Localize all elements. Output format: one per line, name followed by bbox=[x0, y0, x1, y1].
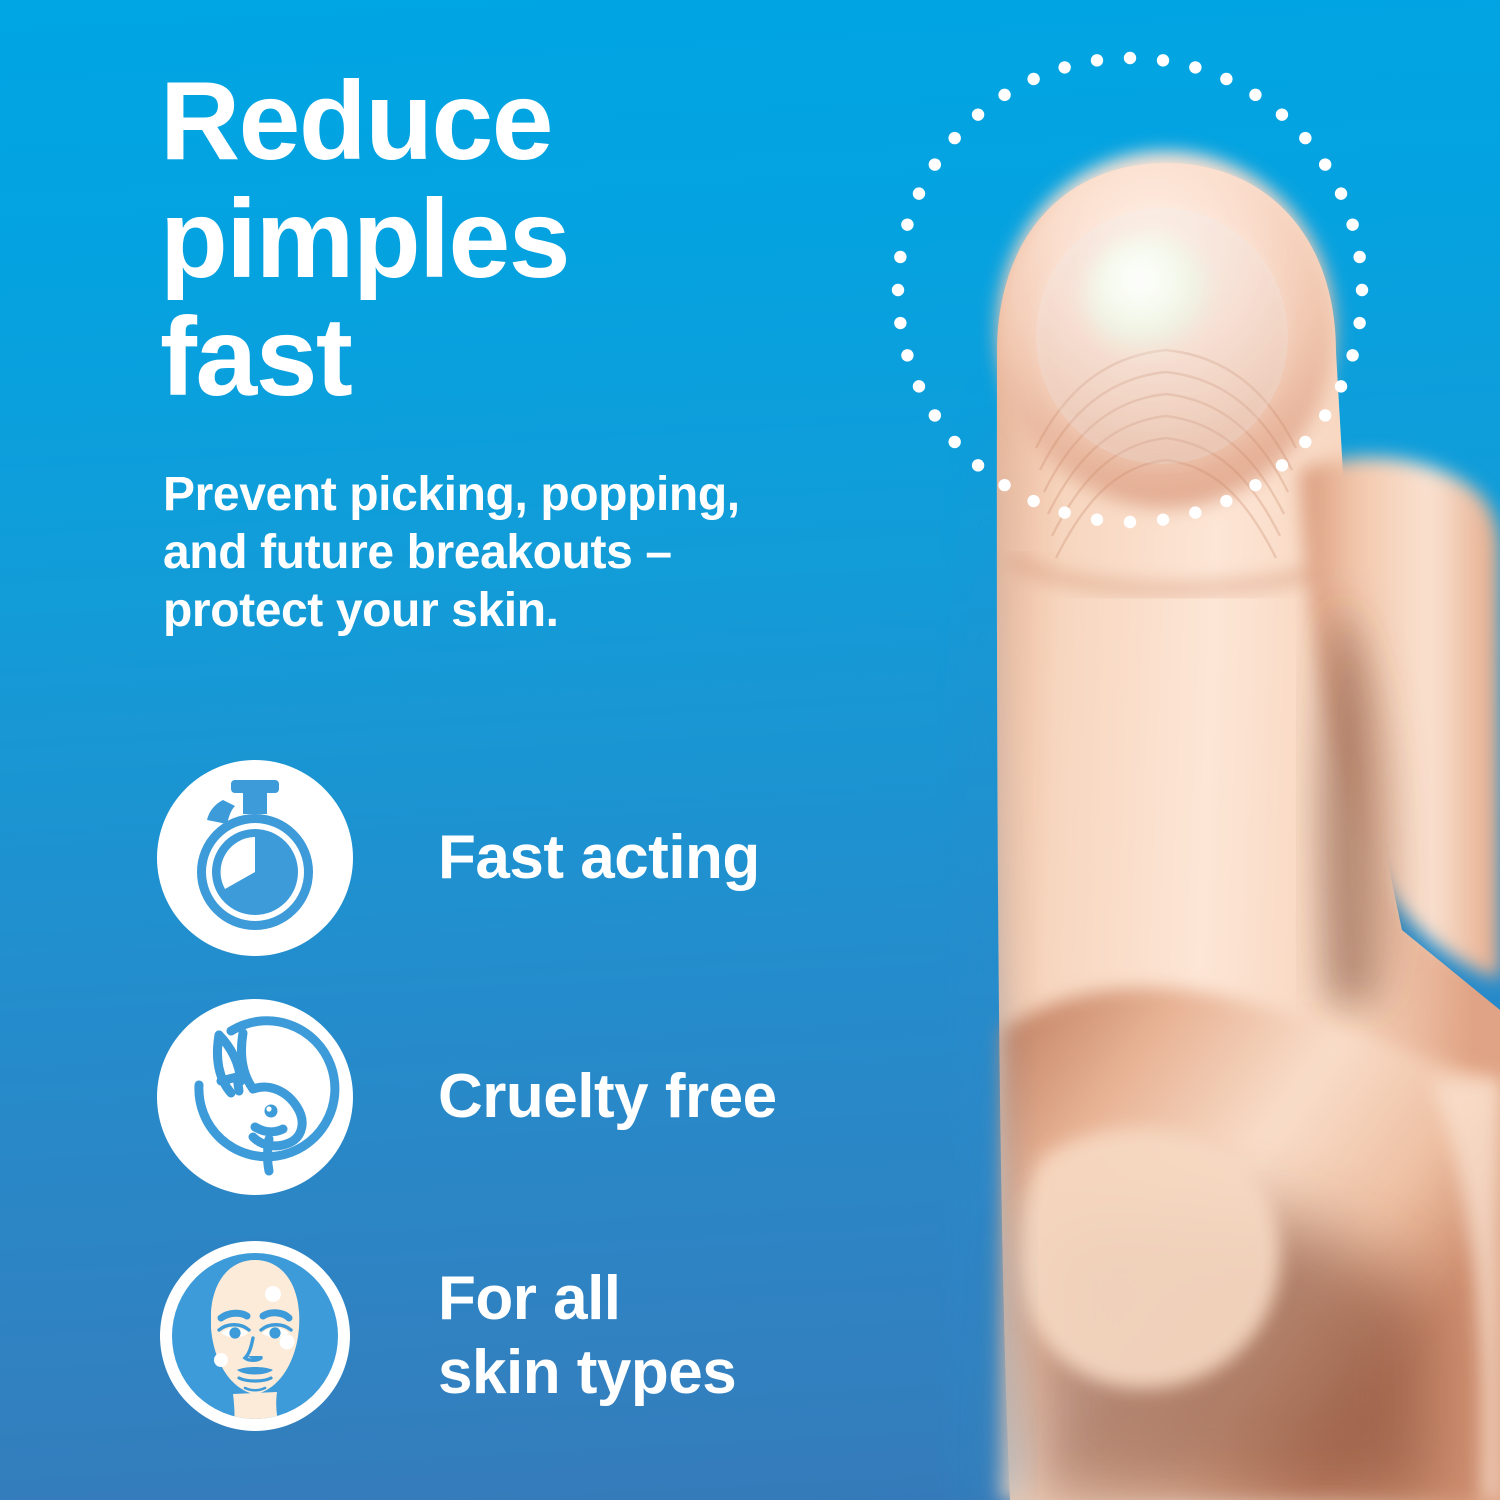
product-marketing-image: Reduce pimples fast Prevent picking, pop… bbox=[0, 0, 1500, 1500]
curled-fingers bbox=[1000, 988, 1500, 1500]
far-finger-highlight bbox=[1430, 1080, 1500, 1500]
finger-crease-upper bbox=[1010, 560, 1344, 589]
benefit-list: Fast acting bbox=[157, 760, 977, 1477]
benefit-label: For all skin types bbox=[438, 1262, 736, 1410]
cruelty-free-badge bbox=[157, 999, 353, 1195]
stopwatch-icon bbox=[157, 760, 353, 956]
benefit-row-cruelty-free: Cruelty free bbox=[157, 999, 977, 1195]
benefit-row-skin-types: For all skin types bbox=[157, 1238, 977, 1434]
benefit-row-fast-acting: Fast acting bbox=[157, 760, 977, 956]
thumb-nail-highlight bbox=[1020, 1128, 1280, 1388]
finger-gap-shadow bbox=[1326, 600, 1400, 1010]
lower-hand-shadow bbox=[1030, 1207, 1430, 1500]
patch-dot-cheek bbox=[280, 1335, 295, 1350]
womans-face-icon bbox=[157, 1238, 353, 1434]
skin-types-badge bbox=[157, 1238, 353, 1434]
page-title: Reduce pimples fast bbox=[160, 62, 920, 416]
patch-dot-jaw bbox=[214, 1353, 228, 1367]
benefit-label: Cruelty free bbox=[438, 1060, 777, 1134]
stopwatch-badge bbox=[157, 760, 353, 956]
patch-dot-forehead bbox=[265, 1286, 281, 1302]
rabbit-cruelty-free-icon bbox=[157, 999, 353, 1195]
dotted-circle-highlight bbox=[880, 40, 1380, 540]
benefit-label: Fast acting bbox=[438, 821, 760, 895]
subheadline: Prevent picking, popping, and future bre… bbox=[163, 466, 923, 640]
